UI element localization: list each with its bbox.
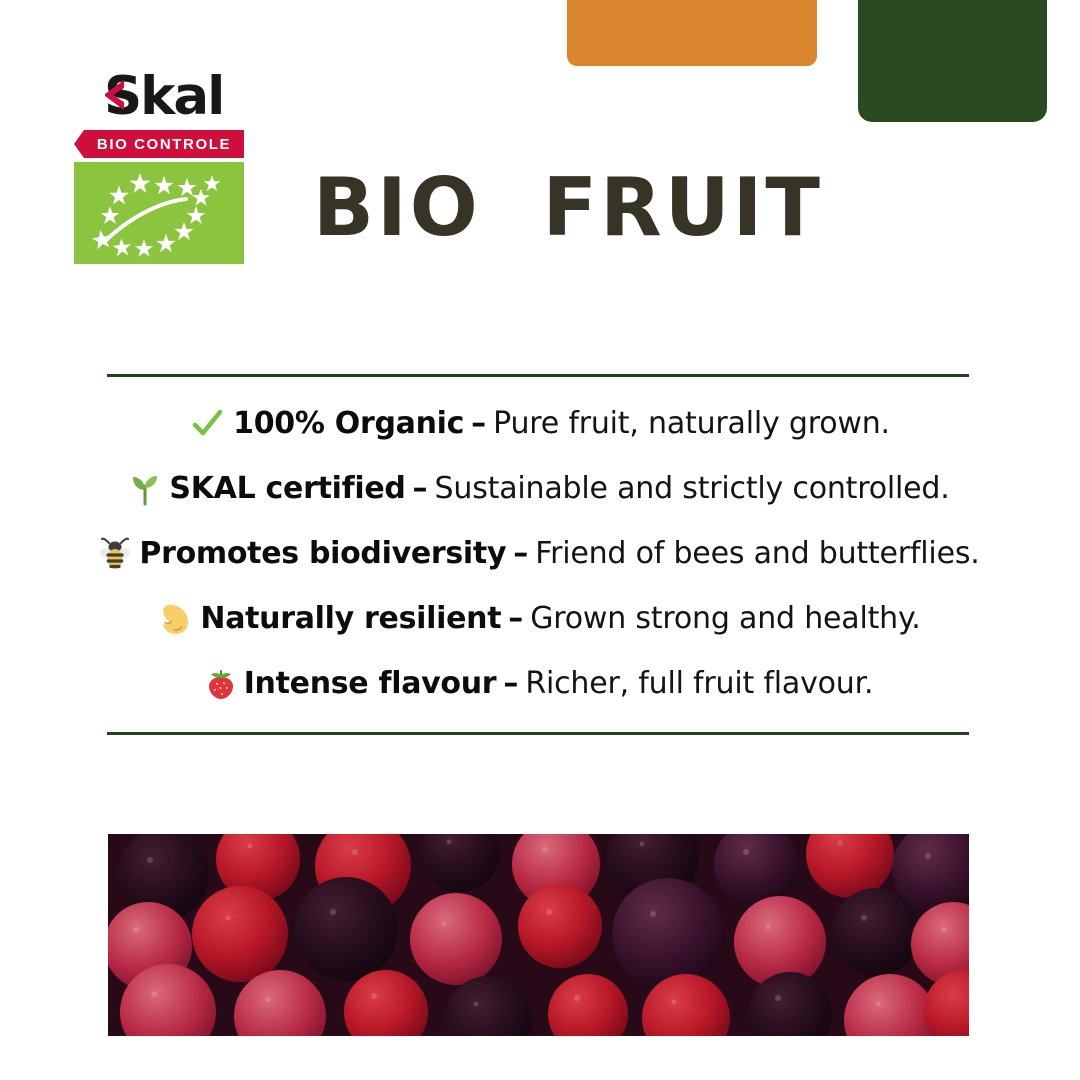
strawberry-icon xyxy=(207,667,235,701)
feature-description: Grown strong and healthy. xyxy=(530,601,920,636)
feature-title: 100% Organic xyxy=(233,406,464,441)
feature-item: SKAL certified – Sustainable and strictl… xyxy=(130,461,949,516)
feature-item: 100% Organic – Pure fruit, naturally gro… xyxy=(190,396,890,451)
feature-dash: – xyxy=(464,406,493,441)
feature-description: Pure fruit, naturally grown. xyxy=(493,406,890,441)
feature-description: Sustainable and strictly controlled. xyxy=(435,471,950,506)
honeybee-icon xyxy=(100,537,130,571)
feature-dash: – xyxy=(496,666,525,701)
check-mark-icon xyxy=(190,407,224,441)
flexed-biceps-icon xyxy=(159,602,191,636)
eu-organic-leaf-logo xyxy=(74,162,244,264)
green-accent-block xyxy=(858,0,1047,122)
page-title: BIO FRUIT xyxy=(313,168,823,248)
skal-wordmark-tail: al xyxy=(173,70,223,123)
feature-title: Intense flavour xyxy=(244,666,497,701)
feature-title: Promotes biodiversity xyxy=(139,536,506,571)
skal-red-chevron-icon xyxy=(103,80,125,110)
feature-dash: – xyxy=(406,471,435,506)
feature-item: Intense flavour – Richer, full fruit fla… xyxy=(207,656,874,711)
skal-wordmark: Skal xyxy=(104,68,354,124)
feature-description: Richer, full fruit flavour. xyxy=(525,666,873,701)
skal-certification-logo: Skal BIO CONTROLE xyxy=(74,68,324,264)
berry-photo-illustration xyxy=(108,834,969,1036)
feature-title: SKAL certified xyxy=(169,471,405,506)
orange-accent-block xyxy=(567,0,817,66)
feature-dash: – xyxy=(506,536,535,571)
feature-list: 100% Organic – Pure fruit, naturally gro… xyxy=(40,396,1040,711)
berry-photo xyxy=(108,834,969,1036)
divider-top xyxy=(107,374,969,377)
poster-root: Skal BIO CONTROLE xyxy=(0,0,1080,1080)
feature-dash: – xyxy=(501,601,530,636)
bio-controle-label: BIO CONTROLE xyxy=(87,136,231,153)
feature-title: Naturally resilient xyxy=(200,601,501,636)
seedling-icon xyxy=(130,472,160,506)
divider-bottom xyxy=(107,732,969,735)
bio-controle-banner: BIO CONTROLE xyxy=(74,130,244,158)
feature-description: Friend of bees and butterflies. xyxy=(535,536,979,571)
eu-leaf-stars-icon xyxy=(74,162,244,264)
feature-item: Naturally resilient – Grown strong and h… xyxy=(159,591,920,646)
feature-item: Promotes biodiversity – Friend of bees a… xyxy=(100,526,979,581)
